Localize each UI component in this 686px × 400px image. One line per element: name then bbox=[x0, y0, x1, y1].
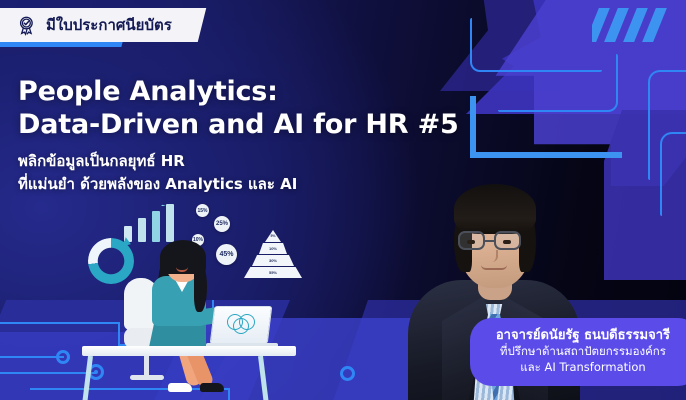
venn-diagram-icon bbox=[227, 314, 257, 334]
subtitle-line-2: ที่แม่นยำ ด้วยพลังของ Analytics และ AI bbox=[18, 173, 297, 196]
circuit-line-2 bbox=[498, 54, 618, 112]
diagonal-stripes-decoration bbox=[592, 8, 676, 42]
speaker-glasses-bridge bbox=[485, 240, 494, 242]
percent-bubble: 25% bbox=[214, 216, 230, 232]
speaker-mouth bbox=[481, 265, 507, 270]
speaker-role-line-1: ที่ปรึกษาด้านสถาปัตยกรรมองค์กร bbox=[496, 344, 670, 360]
bar-chart-icon bbox=[120, 202, 178, 242]
donut-arrow-icon bbox=[123, 237, 133, 249]
badge-accent-bar bbox=[0, 42, 123, 47]
speaker-brow-right bbox=[500, 225, 518, 228]
percent-bubble: 15% bbox=[196, 204, 209, 217]
desk-top bbox=[82, 346, 296, 356]
person-eye-left bbox=[174, 258, 178, 262]
circuit-wire-2 bbox=[0, 356, 64, 358]
page-title: People Analytics: Data-Driven and AI for… bbox=[18, 76, 459, 142]
desk-leg-right bbox=[258, 356, 269, 400]
title-line-1: People Analytics: bbox=[18, 76, 459, 109]
percent-bubble: 45% bbox=[216, 244, 237, 265]
speaker-brow-left bbox=[463, 225, 481, 228]
circuit-line-4 bbox=[660, 132, 686, 216]
pyramid-chart-icon: 5% 10% 30% 55% bbox=[242, 230, 304, 282]
certificate-badge-label: มีใบประกาศนียบัตร bbox=[46, 13, 172, 37]
pyramid-tier: 10% bbox=[259, 243, 287, 254]
speaker-name-card: อาจารย์ดนัยรัฐ ธนบดีธรรมจารี ที่ปรึกษาด้… bbox=[470, 318, 686, 386]
certificate-seal-icon bbox=[16, 15, 37, 36]
person-hair-right bbox=[194, 262, 207, 312]
people-analytics-illustration: 15% 25% 10% 45% 5% 10% 30% 55% bbox=[96, 202, 396, 392]
circuit-node-2 bbox=[56, 350, 70, 364]
course-promo-banner: 15% 25% 10% 45% 5% 10% 30% 55% bbox=[0, 0, 686, 400]
speaker-name: อาจารย์ดนัยรัฐ ธนบดีธรรมจารี bbox=[496, 327, 670, 345]
pyramid-tier: 55% bbox=[244, 267, 302, 278]
subtitle-line-1: พลิกข้อมูลเป็นกลยุทธ์ HR bbox=[18, 150, 297, 173]
pyramid-tier: 5% bbox=[265, 230, 281, 242]
person-eye-right bbox=[186, 258, 190, 262]
title-line-2: Data-Driven and AI for HR #5 bbox=[18, 109, 459, 142]
page-subtitle: พลิกข้อมูลเป็นกลยุทธ์ HR ที่แม่นยำ ด้วยพ… bbox=[18, 150, 297, 196]
speaker-role-line-2: และ AI Transformation bbox=[496, 360, 670, 376]
desk-leg-left bbox=[82, 356, 93, 400]
certificate-badge: มีใบประกาศนียบัตร bbox=[0, 8, 206, 42]
speaker-eye-right bbox=[503, 240, 511, 244]
speaker-eye-left bbox=[467, 240, 475, 244]
pyramid-tier: 30% bbox=[252, 255, 294, 266]
